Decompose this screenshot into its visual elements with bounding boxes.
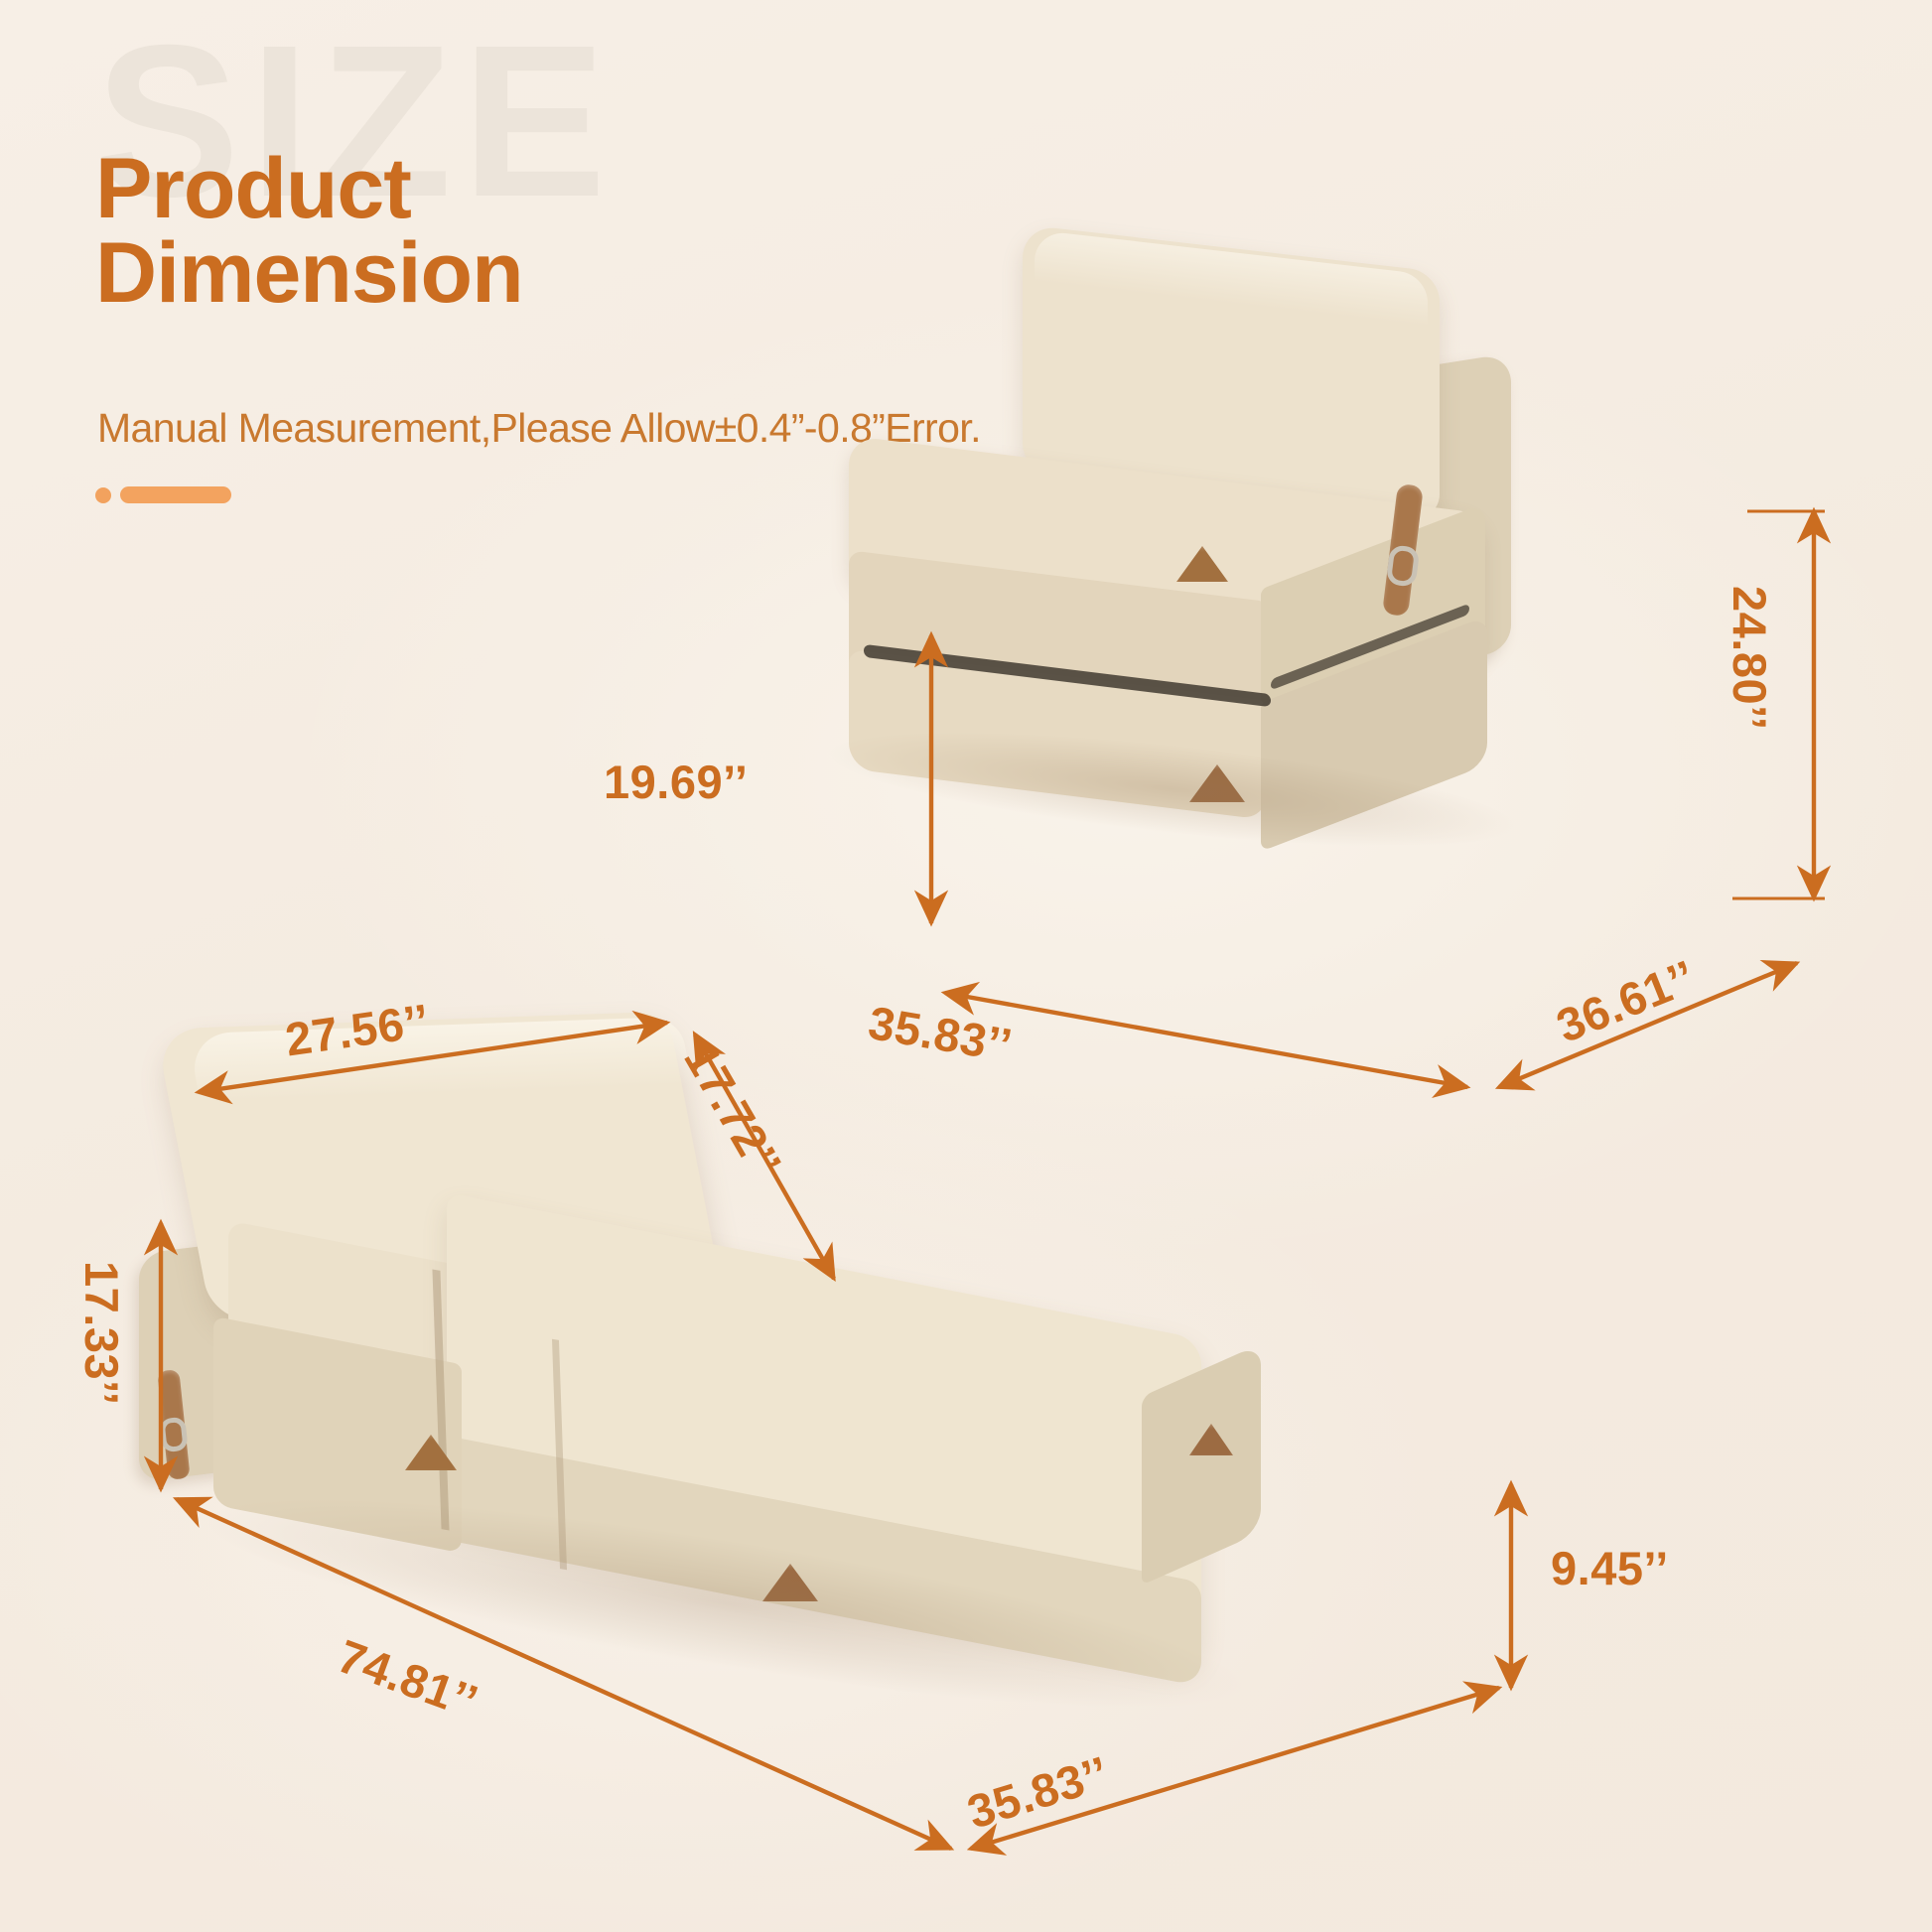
dim-chair-back-height: 24.80’’ bbox=[1723, 586, 1777, 731]
page-title-line-1: Product bbox=[95, 147, 523, 231]
page-title: Product Dimension bbox=[95, 147, 523, 316]
unfolded-bed-illustration bbox=[139, 1042, 1291, 1757]
accent-rule bbox=[95, 486, 231, 503]
dim-bed-backrest-height: 17.33’’ bbox=[74, 1261, 129, 1406]
dim-bed-thickness: 9.45’’ bbox=[1551, 1541, 1669, 1595]
folded-chair-illustration bbox=[923, 248, 1747, 943]
accent-bar-icon bbox=[120, 486, 231, 503]
dim-chair-height: 19.69’’ bbox=[604, 755, 749, 809]
measurement-disclaimer: Manual Measurement,Please Allow±0.4”-0.8… bbox=[97, 405, 981, 452]
accent-dot-icon bbox=[95, 487, 111, 503]
bed-buckle-ring-icon bbox=[159, 1417, 188, 1453]
dim-bed-width: 35.83’’ bbox=[961, 1744, 1115, 1839]
dim-chair-depth: 36.61’’ bbox=[1549, 948, 1704, 1053]
infographic-canvas: SIZE Product Dimension Manual Measuremen… bbox=[0, 0, 1932, 1932]
page-title-line-2: Dimension bbox=[95, 231, 523, 316]
